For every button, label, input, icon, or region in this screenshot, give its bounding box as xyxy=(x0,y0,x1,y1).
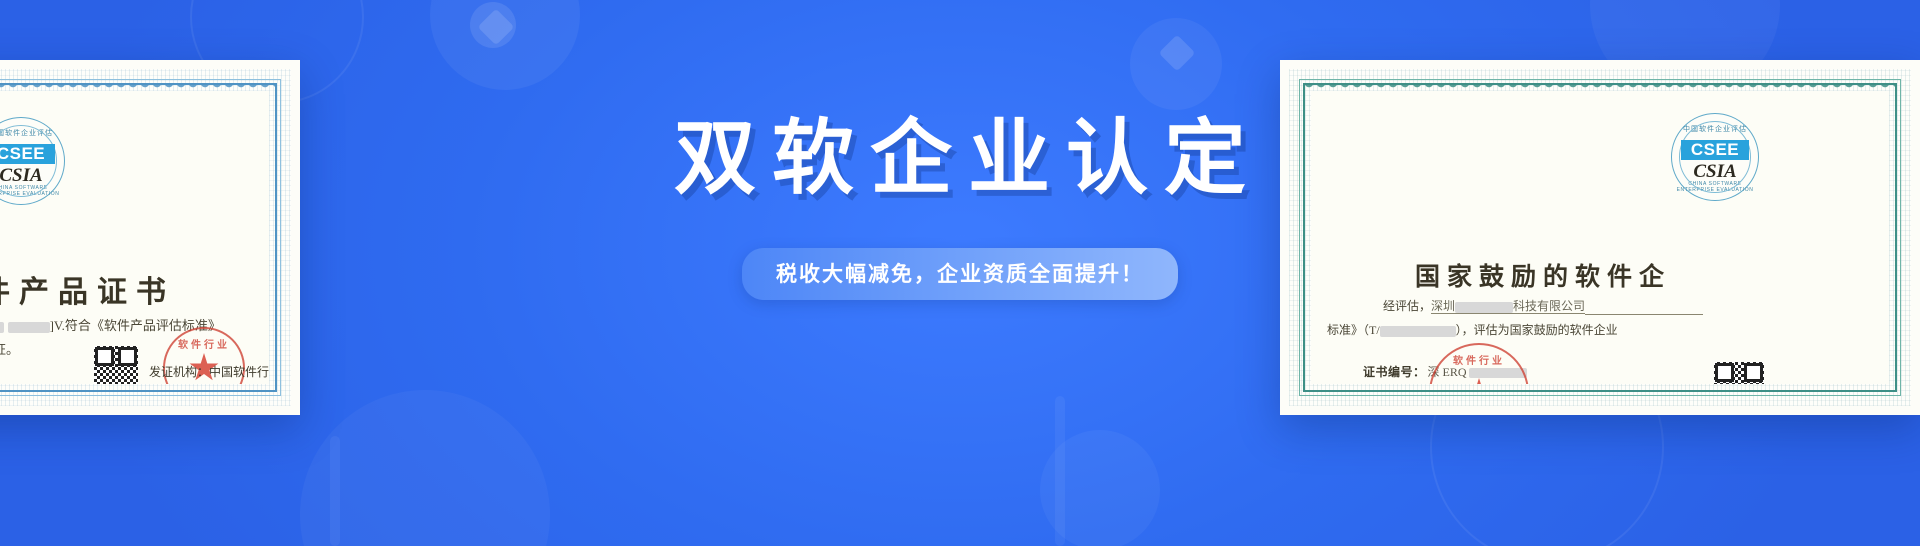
decor-circle-2 xyxy=(1130,18,1222,110)
page-title: 双软企业认定 xyxy=(0,118,1920,200)
redacted-text xyxy=(1455,302,1513,313)
field-label: 证书编号： xyxy=(1363,363,1426,380)
certificate-left-issuer: 发证机构：中国软件行业协会 xyxy=(149,363,269,380)
decor-diamond-1 xyxy=(1159,35,1196,72)
decor-diamond-2 xyxy=(478,9,515,46)
decor-bar-1 xyxy=(1055,396,1065,546)
red-stamp-seal-icon: 软件行业 协会 xyxy=(1429,343,1529,384)
qr-code xyxy=(91,343,141,384)
qr-code xyxy=(1711,359,1767,384)
standard-suffix: ），评估为国家鼓励的软件企业 xyxy=(1456,323,1618,337)
body-prefix: 经评估， xyxy=(1383,299,1431,313)
stamp-arc-top-label: 软件行业 xyxy=(1431,352,1527,367)
subtitle-wrapper: 税收大幅减免，企业资质全面提升！ xyxy=(0,248,1920,300)
redacted-text xyxy=(8,322,50,333)
standard-prefix: 标准》（T/ xyxy=(1327,323,1380,337)
decor-circle-1 xyxy=(430,0,580,90)
field-label: 发证日期： xyxy=(1363,383,1426,384)
redacted-text xyxy=(1380,326,1456,337)
certificate-right-line-2: 标准》（T/），评估为国家鼓励的软件企业 xyxy=(1327,321,1618,338)
stamp-arc-top-label: 软件行业 xyxy=(165,336,243,351)
promo-banner: 中国软件企业评估 CSEE CSIA CHINA SOFTWARE ENTERP… xyxy=(0,0,1920,546)
redacted-text xyxy=(0,322,4,333)
certificate-left-line-2: 软件产品，特发此证。 xyxy=(0,339,19,358)
star-icon xyxy=(1464,378,1494,384)
subtitle-badge: 税收大幅减免，企业资质全面提升！ xyxy=(742,248,1178,300)
banner-center-content: 双软企业认定 税收大幅减免，企业资质全面提升！ xyxy=(0,118,1920,300)
decor-bar-2 xyxy=(330,436,340,546)
line1-mid: ]V. xyxy=(50,318,65,333)
decor-circle-7 xyxy=(470,2,516,48)
company-name-value: 深圳科技有限公司 xyxy=(1431,299,1585,314)
